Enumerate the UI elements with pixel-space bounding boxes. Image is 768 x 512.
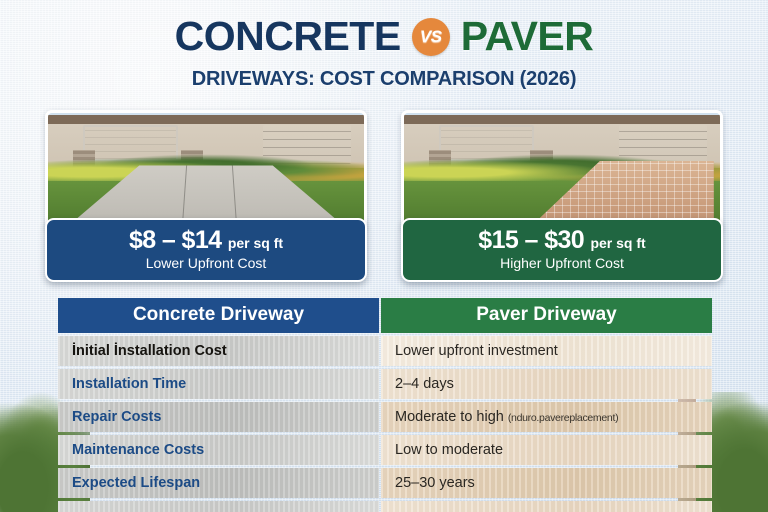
price-badge-row: $8 – $14 per sq ft Lower Upfront Cost $1… <box>45 218 723 282</box>
table-row <box>58 501 712 512</box>
vs-badge: VS <box>412 18 450 56</box>
row-label: Maintenance Costs <box>58 435 379 465</box>
paver-price: $15 – $30 per sq ft <box>407 227 717 254</box>
row-value: 2–4 days <box>381 369 712 399</box>
concrete-price-badge: $8 – $14 per sq ft Lower Upfront Cost <box>45 218 367 282</box>
concrete-price-caption: Lower Upfront Cost <box>51 255 361 271</box>
title-paver: PAVER <box>461 16 594 57</box>
row-label <box>58 501 379 512</box>
table-header-row: Concrete Driveway Paver Driveway <box>58 298 712 333</box>
roof <box>404 115 720 123</box>
table-row: Installation Time 2–4 days <box>58 369 712 399</box>
row-value-text: Moderate to high <box>395 409 504 425</box>
paver-driveway-photo <box>401 110 723 230</box>
concrete-price-unit: per sq ft <box>228 235 283 251</box>
page-title: CONCRETE VS PAVER <box>0 16 768 57</box>
row-value: Lower upfront investment <box>381 336 712 366</box>
row-label: Expected Lifespan <box>58 468 379 498</box>
row-value: 25–30 years <box>381 468 712 498</box>
row-value-note: (nduro.pavereplacement) <box>508 412 618 424</box>
table-row: Repair Costs Moderate to high (nduro.pav… <box>58 402 712 432</box>
table-row: İnitial İnstallation Cost Lower upfront … <box>58 336 712 366</box>
row-value-text: Lower upfront investment <box>395 343 558 359</box>
table-header-paver: Paver Driveway <box>381 298 712 333</box>
row-label: Repair Costs <box>58 402 379 432</box>
roof <box>48 115 364 123</box>
table-row: Maintenance Costs Low to moderate <box>58 435 712 465</box>
table-row: Expected Lifespan 25–30 years <box>58 468 712 498</box>
header: CONCRETE VS PAVER DRIVEWAYS: COST COMPAR… <box>0 16 768 91</box>
row-value-text: Low to moderate <box>395 442 503 458</box>
concrete-price-value: $8 – $14 <box>129 226 222 254</box>
row-value-text: 2–4 days <box>395 376 454 392</box>
paver-price-badge: $15 – $30 per sq ft Higher Upfront Cost <box>401 218 723 282</box>
concrete-price: $8 – $14 per sq ft <box>51 227 361 254</box>
table-header-concrete: Concrete Driveway <box>58 298 379 333</box>
row-value: Low to moderate <box>381 435 712 465</box>
title-concrete: CONCRETE <box>175 16 401 57</box>
paver-price-unit: per sq ft <box>590 235 645 251</box>
row-value <box>381 501 712 512</box>
row-label: İnitial İnstallation Cost <box>58 336 379 366</box>
page-subtitle: DRIVEWAYS: COST COMPARISON (2026) <box>0 68 768 91</box>
comparison-table: Concrete Driveway Paver Driveway İnitial… <box>58 298 712 512</box>
row-value-text: 25–30 years <box>395 475 475 491</box>
photo-row <box>45 110 723 230</box>
concrete-driveway-photo <box>45 110 367 230</box>
paver-price-caption: Higher Upfront Cost <box>407 255 717 271</box>
row-label: Installation Time <box>58 369 379 399</box>
row-value: Moderate to high (nduro.pavereplacement) <box>381 402 712 432</box>
paver-price-value: $15 – $30 <box>478 226 584 254</box>
